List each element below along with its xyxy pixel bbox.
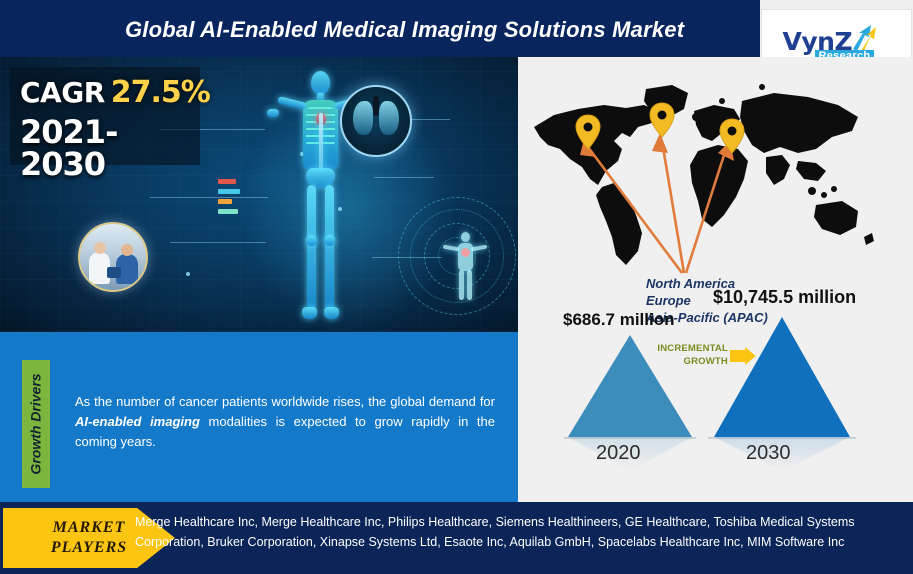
year-label-2020: 2020 — [596, 442, 641, 465]
hud-dot — [186, 272, 190, 276]
incremental-growth-label: INCREMENTAL GROWTH — [646, 342, 728, 368]
pyramid-2020-base — [564, 437, 696, 439]
cagr-value: 27.5% — [111, 75, 210, 110]
incremental-growth-line1: INCREMENTAL — [646, 342, 728, 355]
hud-line — [150, 197, 268, 198]
market-players-band: MARKET PLAYERS Merge Healthcare Inc, Mer… — [0, 502, 913, 574]
growth-drivers-panel: Growth Drivers As the number of cancer p… — [0, 332, 518, 502]
page-title: Global AI-Enabled Medical Imaging Soluti… — [125, 13, 725, 47]
market-size-chart: $686.7 million $10,745.5 million 2020 20… — [518, 287, 913, 502]
logo-arrow-icon — [849, 25, 877, 51]
cagr-period: 2021-2030 — [20, 116, 190, 180]
value-label-2030: $10,745.5 million — [713, 287, 856, 308]
growth-drivers-tab: Growth Drivers — [22, 360, 50, 488]
hud-line — [374, 177, 434, 178]
lung-scan-icon — [340, 85, 412, 157]
growth-text-pre: As the number of cancer patients worldwi… — [75, 394, 495, 409]
market-players-list: Merge Healthcare Inc, Merge Healthcare I… — [135, 512, 895, 552]
map-pin-europe — [650, 103, 674, 137]
year-label-2030: 2030 — [746, 442, 791, 465]
growth-text-emphasis: AI-enabled imaging — [75, 414, 200, 429]
map-landmasses — [534, 84, 874, 265]
hud-line — [170, 242, 266, 243]
market-players-badge-line1: MARKET — [53, 518, 126, 538]
growth-drivers-text: As the number of cancer patients worldwi… — [75, 392, 495, 452]
pyramid-2030-base — [708, 437, 856, 439]
doctors-photo — [78, 222, 148, 292]
cagr-callout: CAGR27.5% 2021-2030 — [10, 67, 200, 165]
growth-drivers-tab-label: Growth Drivers — [28, 373, 44, 474]
world-map-section: North America Europe Asia-Pacific (APAC) — [518, 57, 913, 287]
pyramid-2030 — [714, 317, 850, 437]
hud-chip — [218, 189, 240, 194]
market-players-badge-line2: PLAYERS — [51, 538, 127, 558]
hud-chip — [218, 199, 232, 204]
hologram-body-icon — [445, 232, 485, 302]
cagr-label: CAGR — [20, 76, 105, 109]
incremental-growth-line2: GROWTH — [646, 355, 728, 368]
hud-chip — [218, 179, 236, 184]
world-map — [526, 75, 896, 280]
hud-chip — [218, 209, 238, 214]
hero-medical-visual: CAGR27.5% 2021-2030 — [0, 57, 518, 332]
infographic-root: Global AI-Enabled Medical Imaging Soluti… — [0, 0, 913, 574]
incremental-growth-arrow-icon — [730, 347, 756, 365]
value-label-2020: $686.7 million — [563, 310, 675, 330]
right-panel: North America Europe Asia-Pacific (APAC)… — [518, 57, 913, 502]
